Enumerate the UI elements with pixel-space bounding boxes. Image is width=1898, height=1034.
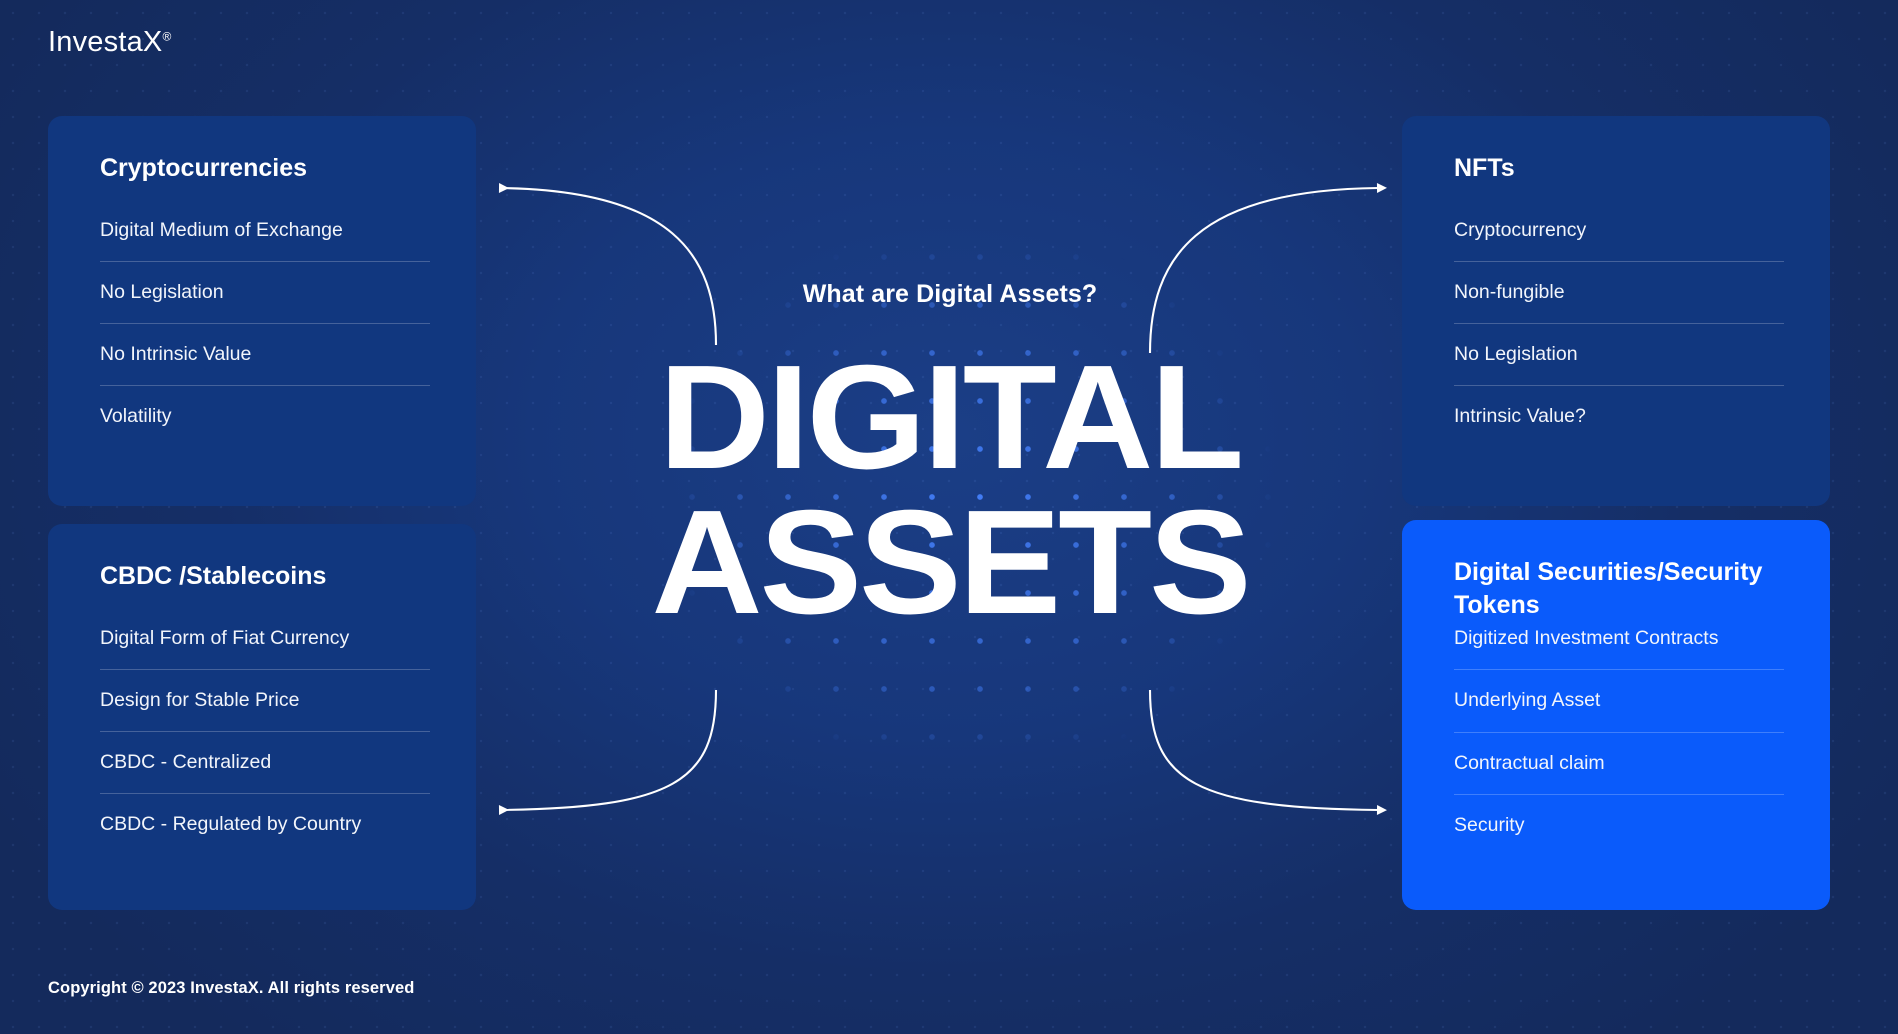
list-item: Design for Stable Price <box>100 670 430 732</box>
list-item: Non-fungible <box>1454 262 1784 324</box>
list-item: No Legislation <box>1454 324 1784 386</box>
card-cbdc-stablecoins[interactable]: CBDC /Stablecoins Digital Form of Fiat C… <box>48 524 476 910</box>
center-question-label: What are Digital Assets? <box>560 280 1340 309</box>
center-headline: DIGITAL ASSETS <box>544 345 1355 635</box>
list-item: No Legislation <box>100 262 430 324</box>
card-digital-securities[interactable]: Digital Securities/Security Tokens Digit… <box>1402 520 1830 910</box>
list-item: Volatility <box>100 386 430 447</box>
list-item: Cryptocurrency <box>1454 217 1784 262</box>
registered-trademark-icon: ® <box>162 29 171 43</box>
list-item: CBDC - Centralized <box>100 732 430 794</box>
arrow-to-digital-securities <box>1150 690 1378 810</box>
card-feature-list: Cryptocurrency Non-fungible No Legislati… <box>1454 217 1784 448</box>
card-feature-list: Digitized Investment Contracts Underlyin… <box>1454 625 1784 856</box>
list-item: Contractual claim <box>1454 733 1784 795</box>
list-item: Intrinsic Value? <box>1454 386 1784 447</box>
investax-logo: InvestaX® <box>48 28 171 57</box>
card-cryptocurrencies[interactable]: Cryptocurrencies Digital Medium of Excha… <box>48 116 476 506</box>
card-title: NFTs <box>1454 152 1784 185</box>
card-title: Digital Securities/Security Tokens <box>1454 556 1784 621</box>
card-feature-list: Digital Form of Fiat Currency Design for… <box>100 625 430 856</box>
card-title: Cryptocurrencies <box>100 152 430 185</box>
list-item: Digitized Investment Contracts <box>1454 625 1784 670</box>
logo-wordmark: InvestaX <box>48 26 162 58</box>
list-item: Security <box>1454 795 1784 856</box>
card-feature-list: Digital Medium of Exchange No Legislatio… <box>100 217 430 448</box>
arrow-to-cbdc <box>500 690 716 810</box>
list-item: Underlying Asset <box>1454 670 1784 732</box>
center-block: What are Digital Assets? DIGITAL ASSETS <box>560 280 1340 635</box>
footer-copyright: Copyright © 2023 InvestaX. All rights re… <box>48 979 414 998</box>
card-title: CBDC /Stablecoins <box>100 560 430 593</box>
list-item: No Intrinsic Value <box>100 324 430 386</box>
list-item: CBDC - Regulated by Country <box>100 794 430 855</box>
list-item: Digital Medium of Exchange <box>100 217 430 262</box>
card-nfts[interactable]: NFTs Cryptocurrency Non-fungible No Legi… <box>1402 116 1830 506</box>
infographic-canvas: InvestaX® What are Digital Assets? DIGIT… <box>0 0 1898 1034</box>
list-item: Digital Form of Fiat Currency <box>100 625 430 670</box>
